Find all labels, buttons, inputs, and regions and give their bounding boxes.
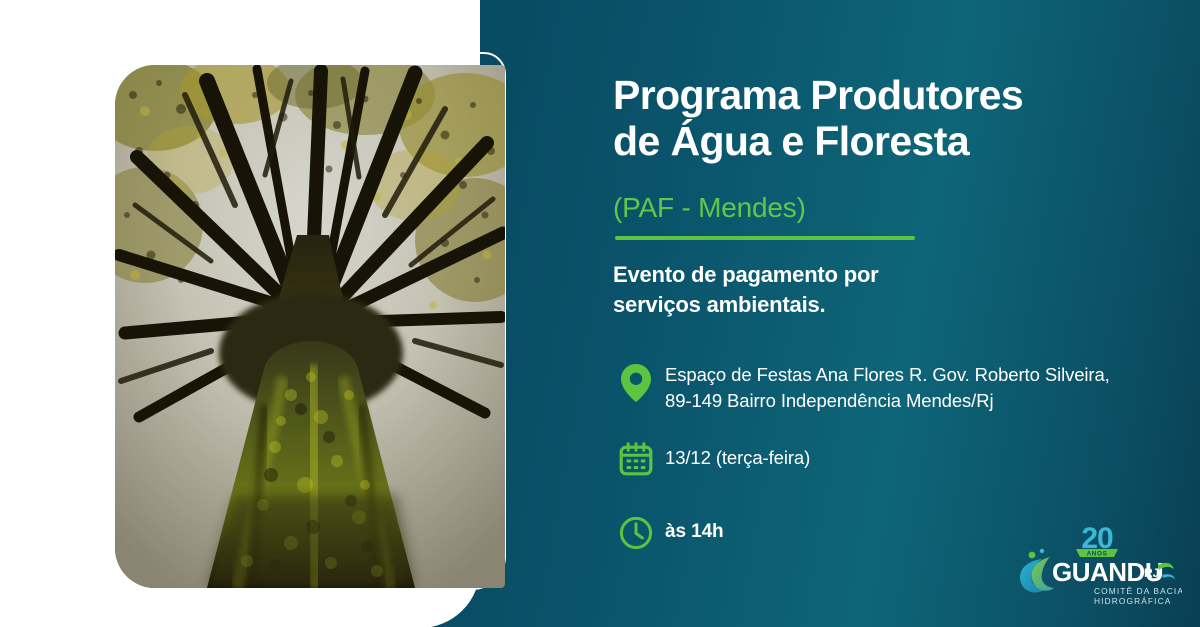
date-text: 13/12 (terça-feira) [659,445,810,471]
guandu-logo-mark: 20 ANOS GUANDU RJ COMITÊ DA BACIA HIDROG… [1012,515,1182,615]
logo-tagline-line-2: HIDROGRÁFICA [1094,596,1171,606]
event-banner: Programa Produtores de Água e Floresta (… [0,0,1200,627]
lead-text: Evento de pagamento por serviços ambient… [613,260,993,321]
calendar-icon [613,440,659,476]
subtitle: (PAF - Mendes) [613,192,806,224]
clock-icon [613,514,659,550]
divider [615,236,915,240]
time-row: às 14h [613,514,724,550]
date-row: 13/12 (terça-feira) [613,440,810,476]
lead-line-1: Evento de pagamento por [613,262,879,287]
tree-photo [115,65,505,588]
title-line-2: de Água e Floresta [613,118,1083,164]
location-text: Espaço de Festas Ana Flores R. Gov. Robe… [659,362,1139,415]
time-text: às 14h [659,519,724,546]
page-title: Programa Produtores de Água e Floresta [613,72,1083,165]
logo-state: RJ [1144,566,1159,580]
map-pin-icon [613,362,659,402]
lead-line-2: serviços ambientais. [613,292,825,317]
title-line-1: Programa Produtores [613,72,1023,118]
logo-right-swoosh-2 [1162,574,1175,579]
location-row: Espaço de Festas Ana Flores R. Gov. Robe… [613,362,1139,415]
logo-tagline-line-1: COMITÊ DA BACIA [1094,586,1182,596]
logo-wave-swoosh [1020,549,1054,593]
tree-photo-illustration [115,65,505,588]
logo-right-swoosh [1158,563,1174,570]
guandu-logo: 20 ANOS GUANDU RJ COMITÊ DA BACIA HIDROG… [1012,515,1182,615]
